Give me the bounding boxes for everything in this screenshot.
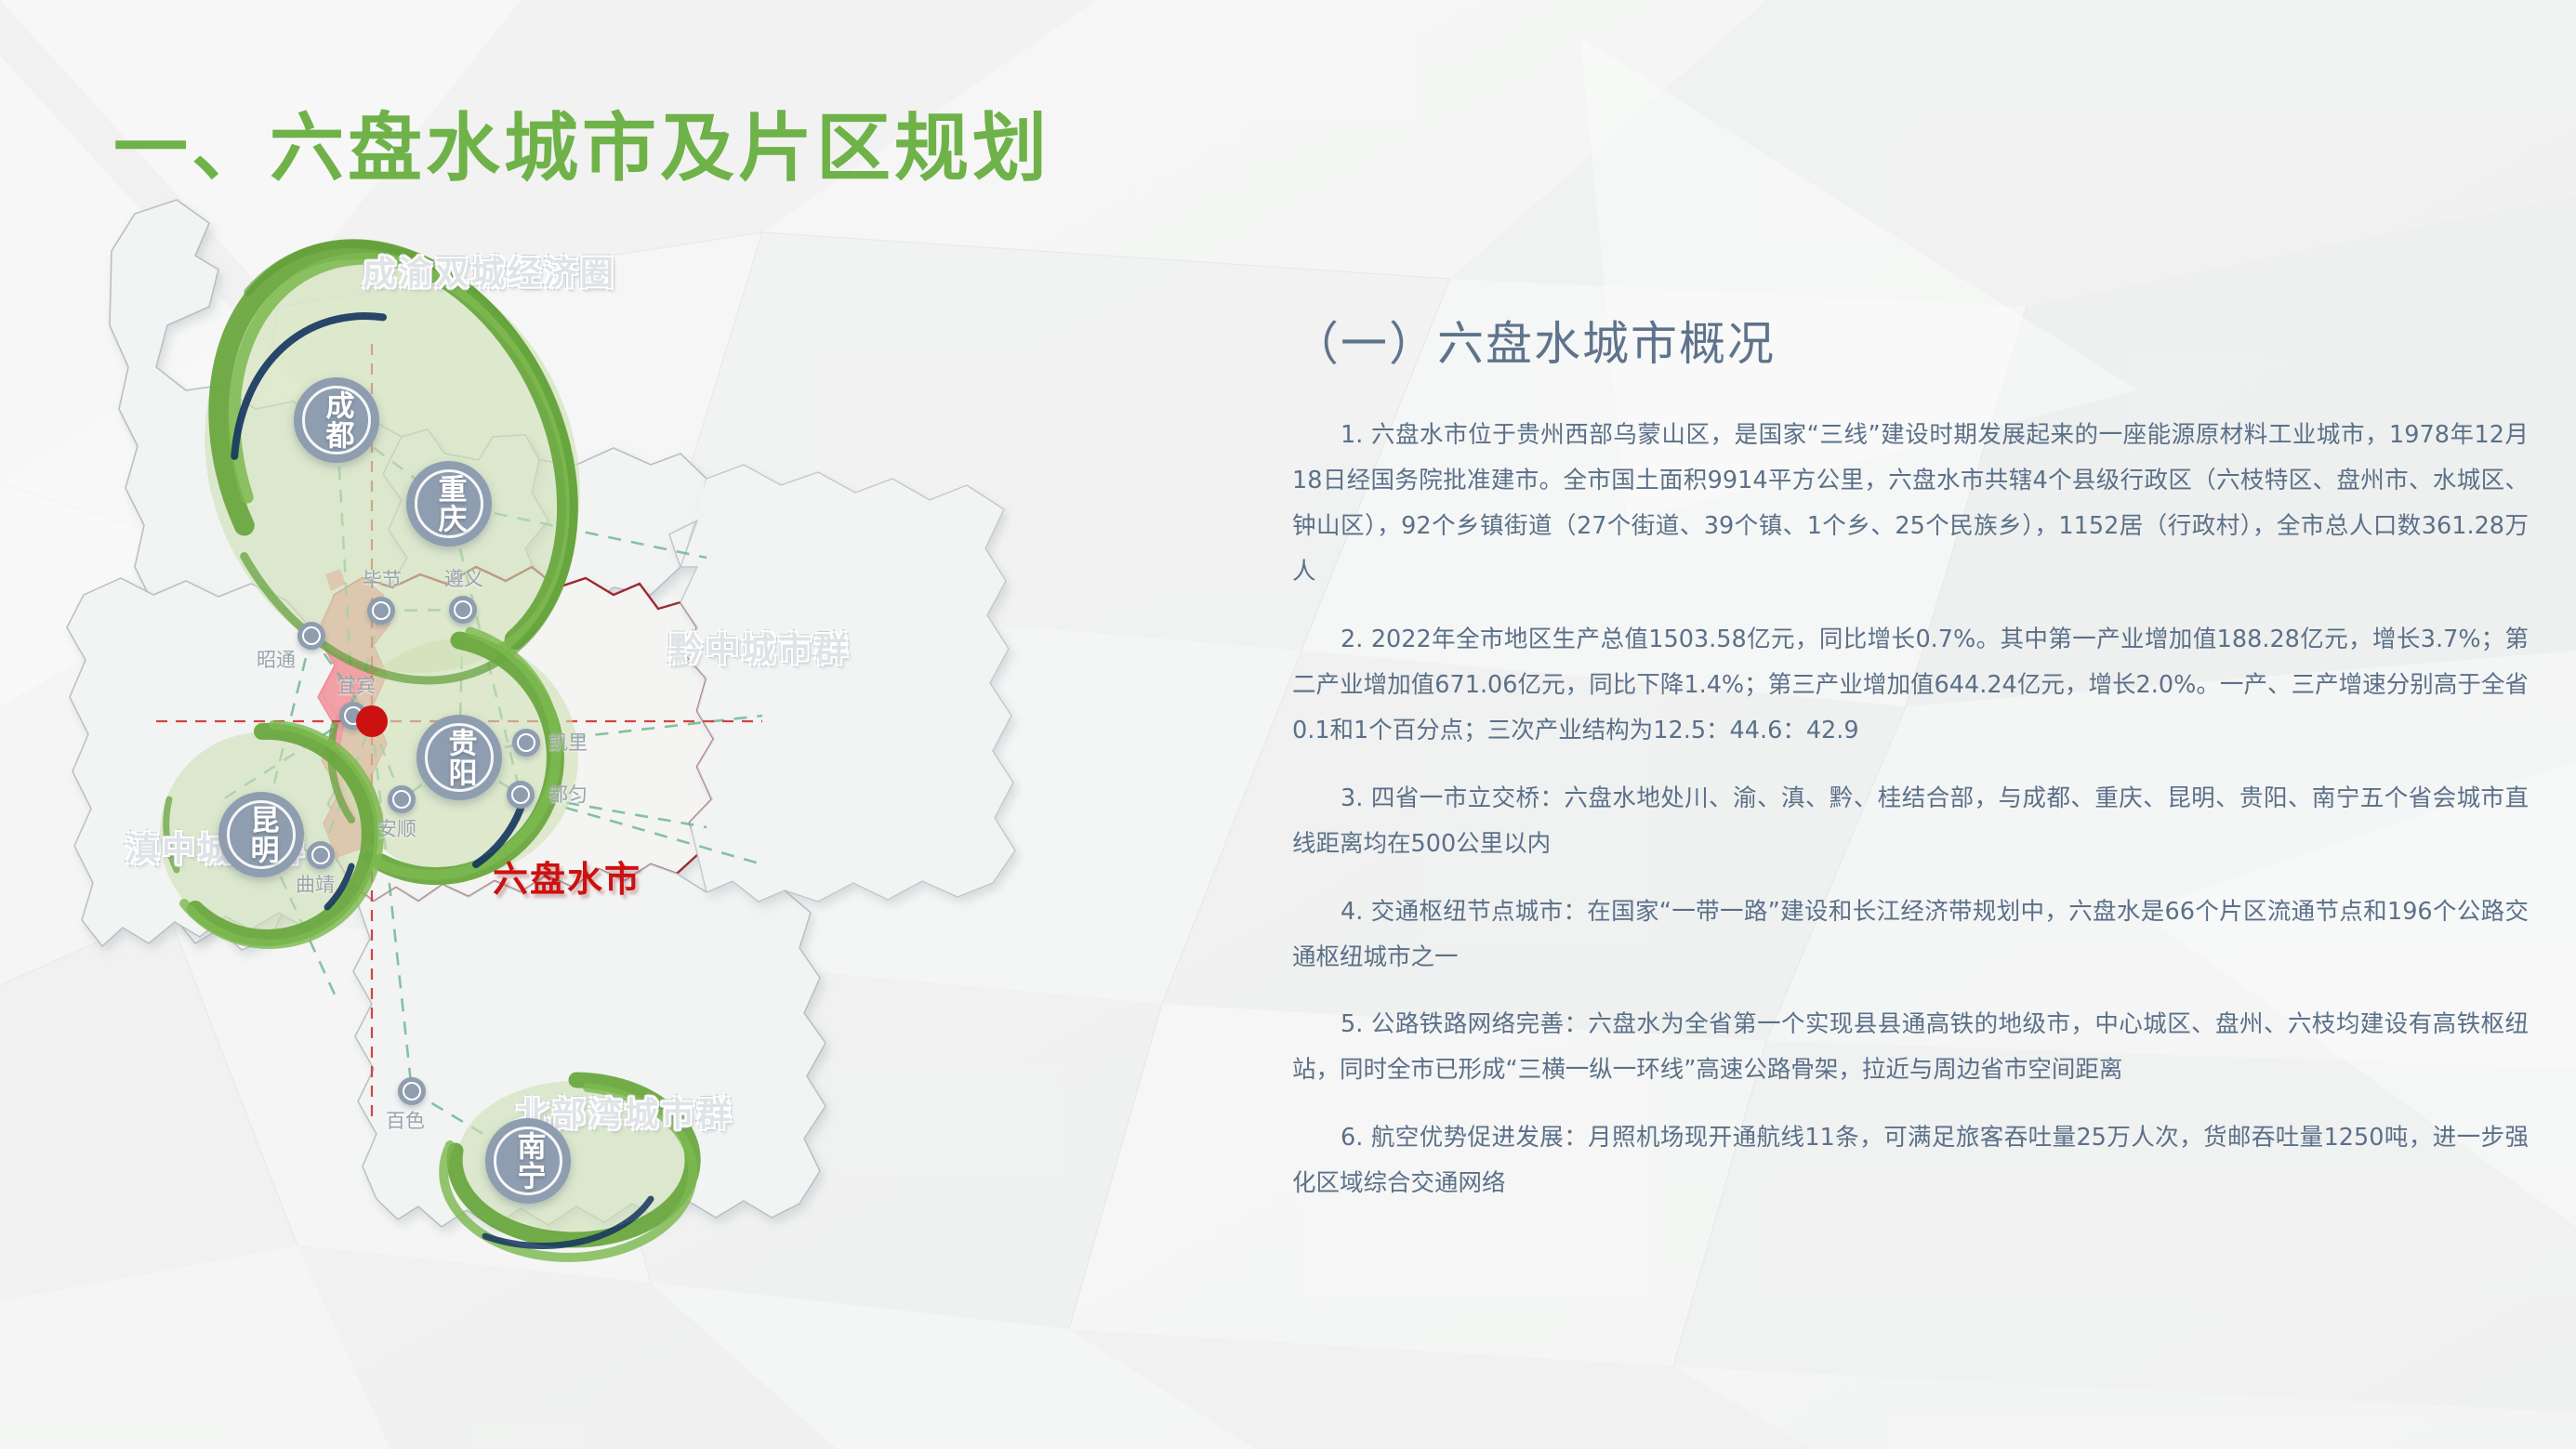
node-label-kaili: 凯里 <box>548 728 588 756</box>
node-label-zunyi: 遵义 <box>444 564 483 592</box>
node-label-anshun: 安顺 <box>377 814 416 842</box>
overview-paragraph-5: 5. 公路铁路网络完善：六盘水为全省第一个实现县县通高铁的地级市，中心城区、盘州… <box>1292 1002 2529 1093</box>
focus-city-label: 六盘水市 <box>493 850 641 902</box>
overview-paragraph-2: 2. 2022年全市地区生产总值1503.58亿元，同比增长0.7%。其中第一产… <box>1292 617 2529 754</box>
city-marker-guiyang[interactable]: 贵阳 <box>416 715 502 800</box>
node-marker-baise[interactable] <box>398 1077 426 1105</box>
section-heading: （一）六盘水城市概况 <box>1292 307 2529 374</box>
node-label-baise: 百色 <box>386 1106 425 1134</box>
city-marker-chengdu[interactable]: 成都 <box>294 377 379 463</box>
node-marker-anshun[interactable] <box>388 785 416 813</box>
city-marker-kunming[interactable]: 昆明 <box>218 792 304 877</box>
node-ring <box>372 601 390 620</box>
regional-map[interactable]: 成渝双城经济圈 黔中城市群 滇中城市群 北部湾城市群 成都 重庆 贵阳 昆明 南… <box>56 158 1283 1403</box>
city-marker-label: 南宁 <box>514 1131 543 1191</box>
node-ring <box>392 790 411 809</box>
eastern-provinces-outline <box>669 465 1015 902</box>
page-title: 一、六盘水城市及片区规划 <box>113 88 1050 196</box>
node-label-bijie: 毕节 <box>363 565 402 593</box>
node-ring <box>454 600 472 619</box>
overview-panel: （一）六盘水城市概况 1. 六盘水市位于贵州西部乌蒙山区，是国家“三线”建设时期… <box>1292 307 2529 1229</box>
node-marker-bijie[interactable] <box>367 597 395 625</box>
overview-paragraph-1: 1. 六盘水市位于贵州西部乌蒙山区，是国家“三线”建设时期发展起来的一座能源原材… <box>1292 413 2529 595</box>
node-marker-duyun[interactable] <box>507 781 535 809</box>
node-marker-qujing[interactable] <box>307 841 335 869</box>
map-svg <box>56 158 1283 1403</box>
node-label-duyun: 都匀 <box>548 780 588 808</box>
overview-paragraph-3: 3. 四省一市立交桥：六盘水地处川、渝、滇、黔、桂结合部，与成都、重庆、昆明、贵… <box>1292 776 2529 867</box>
node-label-qujing: 曲靖 <box>296 870 335 898</box>
node-ring <box>517 733 535 752</box>
node-ring <box>311 846 330 864</box>
overview-paragraph-6: 6. 航空优势促进发展：月照机场现开通航线11条，可满足旅客吞吐量25万人次，货… <box>1292 1115 2529 1206</box>
node-label-zhaotong: 昭通 <box>257 645 296 673</box>
liupanshui-center-dot <box>346 695 398 747</box>
overview-paragraph-4: 4. 交通枢纽节点城市：在国家“一带一路”建设和长江经济带规划中，六盘水是66个… <box>1292 889 2529 981</box>
city-marker-nanning[interactable]: 南宁 <box>485 1118 571 1204</box>
city-marker-label: 成都 <box>323 390 351 450</box>
node-marker-zhaotong[interactable] <box>297 622 325 650</box>
node-ring <box>511 785 530 804</box>
node-marker-zunyi[interactable] <box>449 596 477 624</box>
city-marker-label: 贵阳 <box>445 728 474 787</box>
city-marker-label: 重庆 <box>435 474 464 533</box>
node-marker-kaili[interactable] <box>512 729 540 757</box>
city-marker-label: 昆明 <box>247 805 276 864</box>
city-marker-chongqing[interactable]: 重庆 <box>406 461 492 547</box>
node-ring <box>302 626 321 645</box>
node-ring <box>403 1082 421 1100</box>
